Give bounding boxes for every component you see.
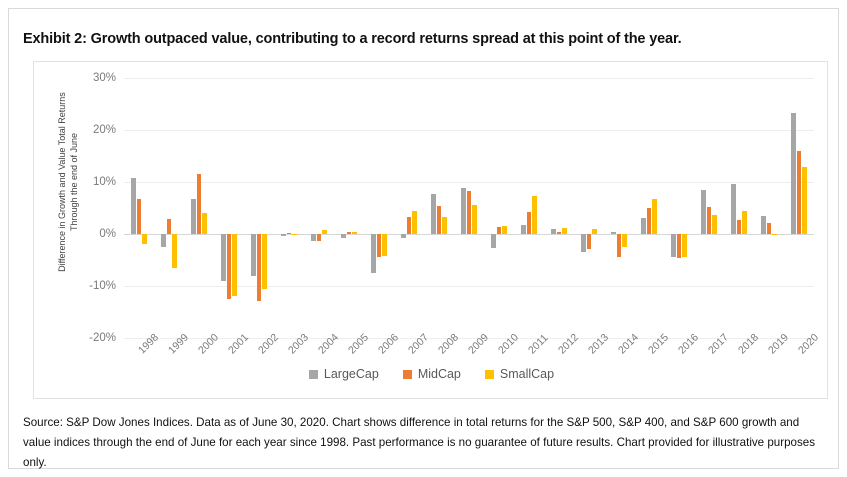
- bar: [191, 199, 196, 234]
- y-axis-tick: 10%: [70, 176, 116, 188]
- bar: [412, 211, 417, 234]
- bar: [172, 234, 177, 268]
- bar: [311, 234, 316, 241]
- bar-group: [364, 78, 394, 338]
- bar-group: [784, 78, 814, 338]
- bar-group: [604, 78, 634, 338]
- bar: [377, 234, 382, 257]
- y-axis-tick: -20%: [70, 332, 116, 344]
- bar-group: [484, 78, 514, 338]
- bar: [737, 220, 742, 234]
- legend-item[interactable]: SmallCap: [485, 367, 554, 381]
- bar: [761, 216, 766, 234]
- bar-group: [454, 78, 484, 338]
- chart-legend: LargeCapMidCapSmallCap: [34, 367, 829, 381]
- bar-group: [664, 78, 694, 338]
- bar: [767, 223, 772, 234]
- bar: [772, 234, 777, 235]
- bar: [232, 234, 237, 296]
- bar: [562, 228, 567, 234]
- bar: [167, 219, 172, 234]
- legend-swatch-icon: [309, 370, 318, 379]
- bar-group: [634, 78, 664, 338]
- bar: [682, 234, 687, 257]
- bar: [791, 113, 796, 234]
- bar: [527, 212, 532, 234]
- bar: [461, 188, 466, 234]
- source-note: Source: S&P Dow Jones Indices. Data as o…: [23, 413, 829, 473]
- chart-container: Difference in Growth and Value Total Ret…: [33, 61, 828, 399]
- bar: [262, 234, 267, 289]
- bar: [641, 218, 646, 234]
- bar-group: [214, 78, 244, 338]
- bar: [257, 234, 262, 301]
- y-axis-tick: 30%: [70, 72, 116, 84]
- legend-swatch-icon: [403, 370, 412, 379]
- bar-group: [724, 78, 754, 338]
- legend-item[interactable]: MidCap: [403, 367, 461, 381]
- bar: [592, 229, 597, 234]
- bar: [491, 234, 496, 248]
- bar: [322, 230, 327, 234]
- exhibit-card: Exhibit 2: Growth outpaced value, contri…: [8, 8, 839, 469]
- bar-group: [424, 78, 454, 338]
- screenshot-root: Exhibit 2: Growth outpaced value, contri…: [0, 0, 847, 477]
- bar: [647, 208, 652, 234]
- bar: [292, 234, 297, 235]
- bar: [617, 234, 622, 257]
- legend-swatch-icon: [485, 370, 494, 379]
- bar: [587, 234, 592, 249]
- bar: [437, 206, 442, 234]
- bar: [317, 234, 322, 241]
- bar: [472, 205, 477, 234]
- bar: [347, 232, 352, 234]
- bar: [701, 190, 706, 234]
- bar-group: [244, 78, 274, 338]
- bar-group: [574, 78, 604, 338]
- bar: [551, 229, 556, 234]
- bar: [287, 233, 292, 234]
- legend-label: MidCap: [418, 367, 461, 381]
- chart-plot-wrapper: Difference in Growth and Value Total Ret…: [34, 62, 829, 400]
- bar: [281, 234, 286, 236]
- bar: [742, 211, 747, 234]
- bar: [341, 234, 346, 238]
- bar: [142, 234, 147, 244]
- bar: [371, 234, 376, 273]
- bar: [652, 199, 657, 234]
- legend-label: LargeCap: [324, 367, 379, 381]
- bar-group: [304, 78, 334, 338]
- plot-area: [124, 78, 814, 338]
- bar: [137, 199, 142, 234]
- bar: [161, 234, 166, 247]
- bar: [532, 196, 537, 234]
- bar: [352, 232, 357, 234]
- bar-group: [544, 78, 574, 338]
- bar: [442, 217, 447, 234]
- bar: [707, 207, 712, 234]
- bar-group: [274, 78, 304, 338]
- bar: [521, 225, 526, 234]
- bar: [502, 226, 507, 234]
- bar: [497, 227, 502, 234]
- legend-label: SmallCap: [500, 367, 554, 381]
- bar: [671, 234, 676, 257]
- page-title: Exhibit 2: Growth outpaced value, contri…: [23, 31, 823, 47]
- bar: [251, 234, 256, 276]
- y-axis-tick: -10%: [70, 280, 116, 292]
- bar: [407, 217, 412, 234]
- bar: [202, 213, 207, 234]
- bar: [557, 232, 562, 234]
- bar-group: [394, 78, 424, 338]
- bar: [622, 234, 627, 247]
- gridline: [124, 338, 814, 339]
- y-axis-tick: 0%: [70, 228, 116, 240]
- bar: [712, 215, 717, 234]
- bar-group: [154, 78, 184, 338]
- bar-group: [694, 78, 724, 338]
- bar: [227, 234, 232, 299]
- legend-item[interactable]: LargeCap: [309, 367, 379, 381]
- bar: [611, 232, 616, 234]
- y-axis-tick: 20%: [70, 124, 116, 136]
- y-axis-tick-labels: 30%20%10%0%-10%-20%: [70, 62, 116, 400]
- bar: [382, 234, 387, 256]
- bar: [731, 184, 736, 234]
- bar: [221, 234, 226, 281]
- bar-group: [184, 78, 214, 338]
- bar: [467, 191, 472, 234]
- bar-group: [514, 78, 544, 338]
- bar: [431, 194, 436, 234]
- bar: [677, 234, 682, 258]
- bar: [197, 174, 202, 234]
- bar: [581, 234, 586, 252]
- bar: [401, 234, 406, 238]
- bar: [802, 167, 807, 234]
- bar-group: [124, 78, 154, 338]
- bar-group: [754, 78, 784, 338]
- bar: [131, 178, 136, 234]
- bar: [797, 151, 802, 234]
- bar-group: [334, 78, 364, 338]
